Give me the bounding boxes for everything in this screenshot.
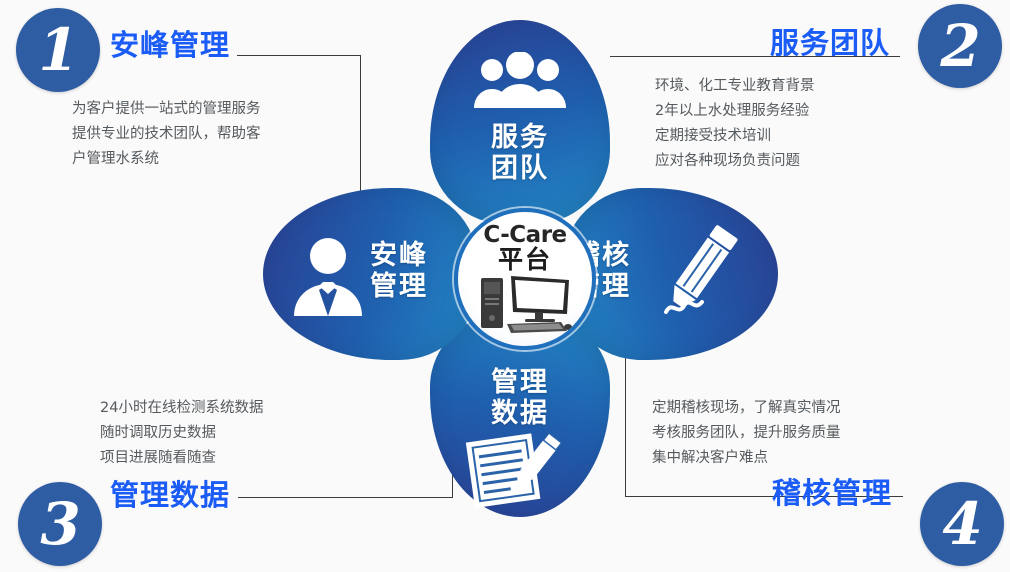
people-group-icon — [470, 52, 570, 108]
number-badge-4: 4 — [920, 482, 1004, 566]
petal-label-service-team: 服务 团队 — [430, 122, 610, 184]
petal-label-line: 数据 — [430, 398, 610, 429]
quadrant-title-1: 安峰管理 — [110, 22, 230, 64]
number-badge-2: 2 — [918, 4, 1002, 88]
businessman-icon — [291, 234, 365, 316]
body-line: 为客户提供一站式的管理服务 — [72, 97, 261, 122]
quadrant-title-3: 管理数据 — [110, 472, 230, 514]
petal-label-line: 服务 — [430, 122, 610, 153]
body-line: 提供专业的技术团队，帮助客 — [72, 122, 261, 147]
desktop-computer-icon — [477, 274, 573, 338]
quadrant-title-2: 服务团队 — [770, 20, 890, 62]
petal-label-data-management: 管理 数据 — [430, 367, 610, 429]
petal-label-line: 管理 — [430, 367, 610, 398]
body-line: 随时调取历史数据 — [100, 421, 263, 446]
pencil-writing-icon — [660, 224, 752, 326]
body-line: 24小时在线检测系统数据 — [100, 396, 263, 421]
clipboard-pencil-icon — [460, 430, 570, 508]
quadrant-title-4: 稽核管理 — [772, 470, 892, 512]
body-line: 户管理水系统 — [72, 147, 261, 172]
hub-subtitle: 平台 — [498, 247, 552, 273]
quadrant-body-3: 24小时在线检测系统数据 随时调取历史数据 项目进展随看随查 — [100, 396, 263, 471]
infographic-canvas: 1 2 3 4 安峰管理 服务团队 管理数据 稽核管理 为客户提供一站式的管理服… — [0, 0, 1010, 572]
number-badge-1: 1 — [16, 8, 100, 92]
number-badge-3: 3 — [18, 482, 102, 566]
flower-diagram: 服务 团队 管理 数据 安峰 管理 稽核 管理 C-Care 平台 — [255, 12, 785, 522]
body-line: 项目进展随看随查 — [100, 446, 263, 471]
center-hub[interactable]: C-Care 平台 — [454, 208, 596, 350]
petal-label-line: 团队 — [430, 153, 610, 184]
hub-title: C-Care — [483, 223, 566, 247]
quadrant-body-1: 为客户提供一站式的管理服务 提供专业的技术团队，帮助客 户管理水系统 — [72, 97, 261, 172]
